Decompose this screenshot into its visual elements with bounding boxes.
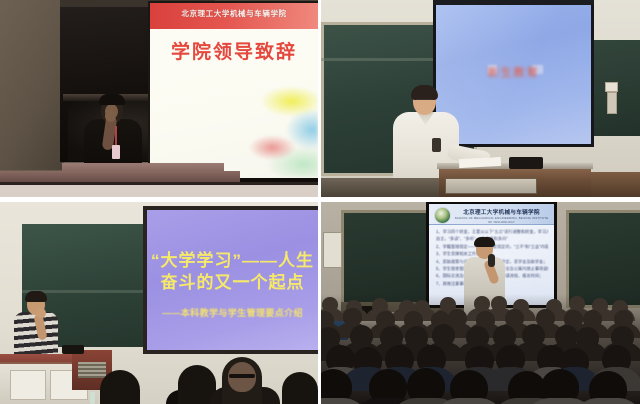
tr-speaker-hair (411, 85, 438, 100)
br-speaker-hair (474, 237, 495, 247)
tr-wall-fixture (607, 92, 617, 114)
tr-desk-left (321, 178, 441, 197)
tl-speaker-cap (99, 94, 125, 105)
bl-audience-head (282, 372, 318, 404)
tl-front-desk-panel (0, 185, 318, 197)
tr-screen-glare (436, 2, 591, 144)
photo-top-left: 北京理工大学机械与车辆学院 学院领导致辞 (0, 0, 318, 197)
tr-podium-control-panel (445, 178, 537, 194)
tr-desk-right (591, 172, 640, 197)
tl-projector-screen: 北京理工大学机械与车辆学院 学院领导致辞 (150, 3, 318, 185)
bl-speaker-hair (25, 291, 47, 302)
bl-water-bottle (90, 392, 95, 404)
br-wall-notice (323, 232, 342, 268)
tr-speaker-pocket (432, 138, 441, 152)
bl-projector-screen: “大学学习”——人生 奋斗的又一个起点 ——本科教学与学生管理要点介绍 (147, 210, 318, 350)
microphone-icon (488, 254, 495, 267)
tl-slide-title: 学院领导致辞 (150, 37, 318, 64)
bl-audience-head (100, 370, 140, 404)
bl-laptop (62, 345, 84, 354)
tr-speaker-glasses (416, 99, 433, 104)
tl-slide-banner-text: 北京理工大学机械与车辆学院 (150, 8, 318, 19)
tr-equipment-box (509, 157, 543, 169)
photo-bottom-left: “大学学习”——人生 奋斗的又一个起点 ——本科教学与学生管理要点介绍 (0, 202, 318, 404)
bl-audience-glasses (229, 374, 255, 378)
photo-collage: 北京理工大学机械与车辆学院 学院领导致辞 新生教育 (0, 0, 640, 404)
bl-slide-subtitle: ——本科教学与学生管理要点介绍 (147, 306, 318, 319)
tl-speaker-hand (105, 110, 116, 122)
photo-bottom-right: 北京理工大学机械与车辆学院 SCHOOL OF MECHANICAL ENGIN… (321, 202, 640, 404)
tr-wall-fixture-top (605, 82, 618, 92)
bl-speaker-hand (36, 308, 46, 318)
tl-slide-artwork (198, 72, 318, 177)
bl-desk-panel-left (10, 370, 46, 400)
tr-screen-top-bar (433, 0, 594, 5)
bl-podium-grill (78, 362, 106, 378)
br-audience (321, 294, 640, 404)
bl-slide-title-line2: 奋斗的又一个起点 (147, 268, 318, 293)
tl-speaker-badge (112, 145, 120, 159)
tl-speaker-lanyard (115, 126, 117, 146)
tl-left-wall-shadow (0, 0, 64, 170)
photo-top-right: 新生教育 (321, 0, 640, 197)
